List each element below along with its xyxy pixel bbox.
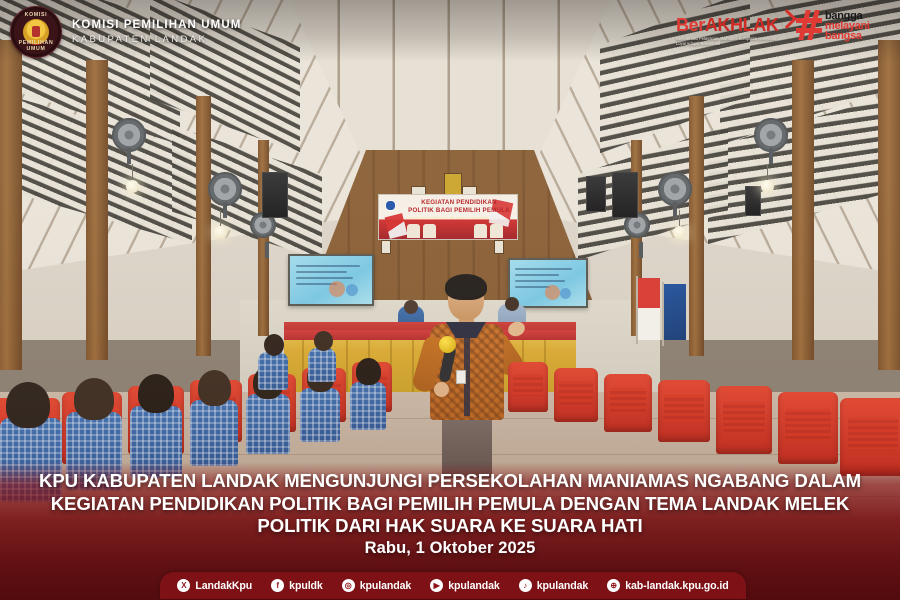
hall-pillar xyxy=(878,40,900,370)
kpu-logo-icon: KOMISI PEMILIHAN UMUM xyxy=(10,6,62,58)
berakhlak-tagline: Berorientasi Pelayanan Akuntabel Kompete… xyxy=(676,36,784,46)
banner-kpu-logo xyxy=(385,200,396,211)
banner-photo xyxy=(423,224,436,238)
regency-name: KABUPATEN LANDAK xyxy=(72,34,241,46)
projector-screen-right xyxy=(508,258,588,308)
official-portrait xyxy=(494,240,504,254)
ceiling-lamp xyxy=(673,226,686,239)
id-badge xyxy=(456,370,466,384)
berakhlak-badge: BerAKHLAK Berorientasi Pelayanan Akuntab… xyxy=(676,6,792,46)
audience-chair xyxy=(554,368,598,422)
hashtag-mark-icon xyxy=(796,10,822,40)
social-media-bar: XLandakKpufkpuldk◎kpulandak▶kpulandak♪kp… xyxy=(160,572,746,599)
organization-branding: KOMISI PEMILIHAN UMUM KOMISI PEMILIHAN U… xyxy=(10,6,241,58)
berakhlak-wordmark: BerAKHLAK xyxy=(676,16,792,34)
website-globe-icon[interactable]: ⊕ xyxy=(607,579,620,592)
social-handle: kpuldk xyxy=(289,580,323,592)
youtube-icon[interactable]: ▶ xyxy=(430,579,443,592)
presenter-hair xyxy=(445,274,487,300)
hall-pillar xyxy=(196,96,211,356)
bangga-melayani-bangsa-badge: bangga melayani bangsa xyxy=(796,6,892,41)
presenter-speaker xyxy=(420,278,516,478)
wall-fan xyxy=(208,172,242,206)
social-handle: kpulandak xyxy=(448,580,500,592)
social-handle: kab-landak.kpu.go.id xyxy=(625,580,728,592)
hall-pillar xyxy=(258,140,269,336)
wall-fan xyxy=(754,118,788,152)
indonesian-flag xyxy=(638,278,660,340)
caption-text: KPU KABUPATEN LANDAK MENGUNJUNGI PERSEKO… xyxy=(28,470,872,538)
stage-banner-title: KEGIATAN PENDIDIKANPOLITIK BAGI PEMILIH … xyxy=(405,199,513,214)
event-date: Rabu, 1 Oktober 2025 xyxy=(0,539,900,558)
stage-banner: KEGIATAN PENDIDIKANPOLITIK BAGI PEMILIH … xyxy=(378,194,518,240)
social-link-kpulandak[interactable]: ♪kpulandak xyxy=(519,579,589,592)
ceiling-lamp xyxy=(214,226,227,239)
social-handle: kpulandak xyxy=(360,580,412,592)
social-link-kpulandak[interactable]: ◎kpulandak xyxy=(342,579,412,592)
pa-speaker xyxy=(612,172,638,218)
social-link-kpuldk[interactable]: fkpuldk xyxy=(271,579,323,592)
bangga-line-3: bangsa xyxy=(825,31,870,41)
tiktok-icon[interactable]: ♪ xyxy=(519,579,532,592)
social-link-landakkpu[interactable]: XLandakKpu xyxy=(177,579,252,592)
projector-screen-left xyxy=(288,254,374,306)
microphone-head xyxy=(439,336,456,353)
audience-chair xyxy=(658,380,710,442)
social-link-kab-landak-kpu-go-id[interactable]: ⊕kab-landak.kpu.go.id xyxy=(607,579,728,592)
hall-pillar xyxy=(792,60,814,360)
banner-photo xyxy=(490,224,503,238)
kpu-logo-ring-top: KOMISI xyxy=(11,12,61,18)
official-portrait xyxy=(381,240,391,254)
presenter-left-hand xyxy=(434,382,449,397)
organization-flag xyxy=(664,284,686,340)
audience-chair xyxy=(778,392,838,464)
banner-photo xyxy=(474,224,487,238)
social-link-kpulandak[interactable]: ▶kpulandak xyxy=(430,579,500,592)
caption-line-1: KPU KABUPATEN LANDAK MENGUNJUNGI PERSEKO… xyxy=(28,470,872,493)
caption-line-2: KEGIATAN PENDIDIKAN POLITIK BAGI PEMILIH… xyxy=(28,493,872,516)
pa-speaker xyxy=(586,176,606,212)
x-twitter-icon[interactable]: X xyxy=(177,579,190,592)
ceiling-lamp xyxy=(761,180,774,193)
pa-speaker xyxy=(745,186,761,216)
program-badges: BerAKHLAK Berorientasi Pelayanan Akuntab… xyxy=(676,6,892,46)
wall-fan xyxy=(112,118,146,152)
poster-image: KEGIATAN PENDIDIKANPOLITIK BAGI PEMILIH … xyxy=(0,0,900,600)
hall-pillar xyxy=(689,96,704,356)
social-handle: LandakKpu xyxy=(195,580,252,592)
facebook-icon[interactable]: f xyxy=(271,579,284,592)
hall-pillar xyxy=(0,40,22,370)
organization-name: KOMISI PEMILIHAN UMUM xyxy=(72,18,241,32)
audience-chair xyxy=(604,374,652,432)
banner-photo xyxy=(407,224,420,238)
stage-banner-subtitle: Landak Melek Politik Dari Hak Suara Ke S… xyxy=(387,216,509,220)
audience-chair xyxy=(508,362,548,412)
garuda-emblem xyxy=(444,173,462,195)
seated-official-head xyxy=(404,300,418,314)
audience-chair xyxy=(716,386,772,454)
pa-speaker xyxy=(262,172,288,218)
caption-line-3: POLITIK DARI HAK SUARA KE SUARA HATI xyxy=(28,515,872,538)
kpu-logo-ring-bottom: PEMILIHAN UMUM xyxy=(11,40,61,52)
instagram-icon[interactable]: ◎ xyxy=(342,579,355,592)
ceiling-lamp xyxy=(126,180,139,193)
hall-pillar xyxy=(86,60,108,360)
wall-fan xyxy=(658,172,692,206)
social-handle: kpulandak xyxy=(537,580,589,592)
